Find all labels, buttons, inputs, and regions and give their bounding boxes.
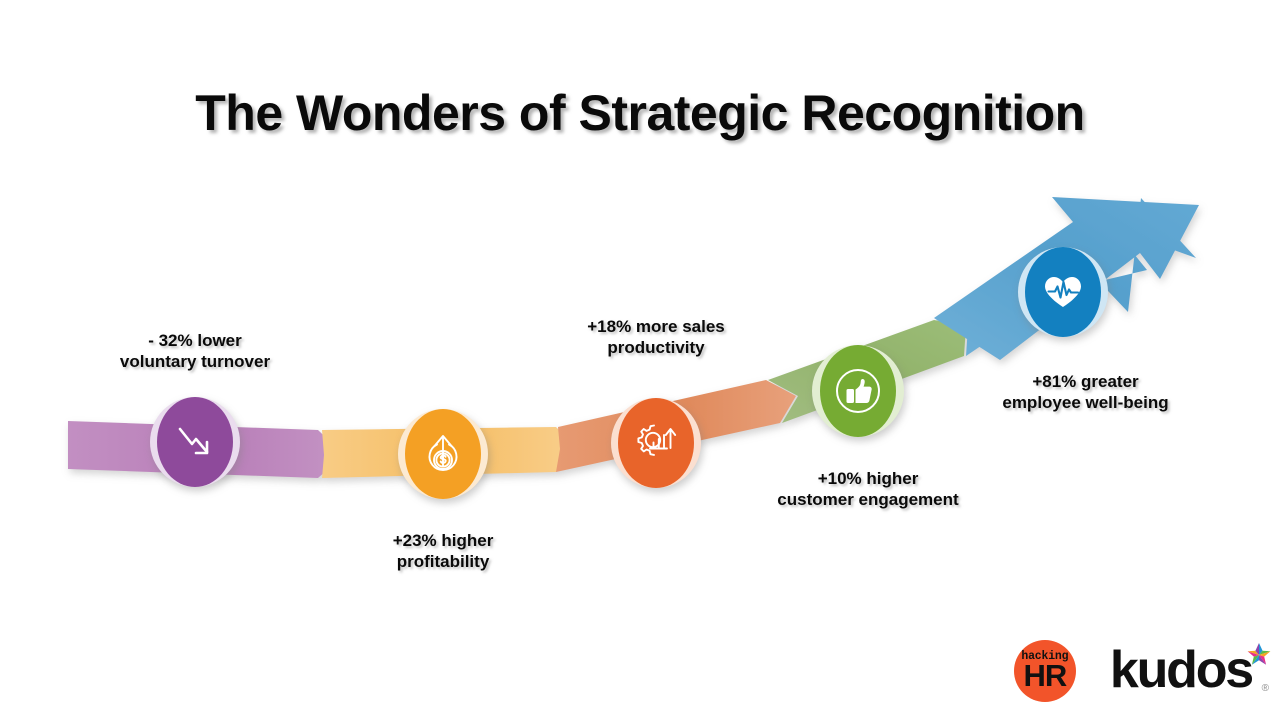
node-profitability[interactable] <box>398 409 488 499</box>
caption-voluntary-turnover: - 32% lower voluntary turnover <box>85 330 305 373</box>
thumbs-up-icon <box>828 361 888 421</box>
heart-pulse-icon <box>1037 266 1089 318</box>
downward-trend-arrow-icon <box>172 419 218 465</box>
logo-group: hacking HR kudos <box>1014 640 1252 702</box>
hacking-hr-logo[interactable]: hacking HR <box>1014 640 1076 702</box>
kudos-registered-mark: ® <box>1262 683 1269 694</box>
kudos-logo[interactable]: kudos ® <box>1110 646 1252 695</box>
caption-employee-well-being: +81% greater employee well-being <box>963 371 1208 414</box>
node-voluntary-turnover[interactable] <box>150 397 240 487</box>
kudos-star-icon <box>1246 642 1272 673</box>
caption-sales-productivity: +18% more sales productivity <box>546 316 766 359</box>
caption-profitability: +23% higher profitability <box>333 530 553 573</box>
kudos-wordmark: kudos <box>1110 646 1252 695</box>
infographic-slide: The Wonders of Strategic Recognition <box>0 0 1280 720</box>
hacking-hr-big-text: HR <box>1023 660 1066 691</box>
money-growth-icon <box>418 429 468 479</box>
node-customer-engagement[interactable] <box>812 345 904 437</box>
caption-customer-engagement: +10% higher customer engagement <box>748 468 988 511</box>
node-sales-productivity[interactable] <box>611 398 701 488</box>
gear-bar-chart-icon <box>630 417 682 469</box>
node-employee-well-being[interactable] <box>1018 247 1108 337</box>
